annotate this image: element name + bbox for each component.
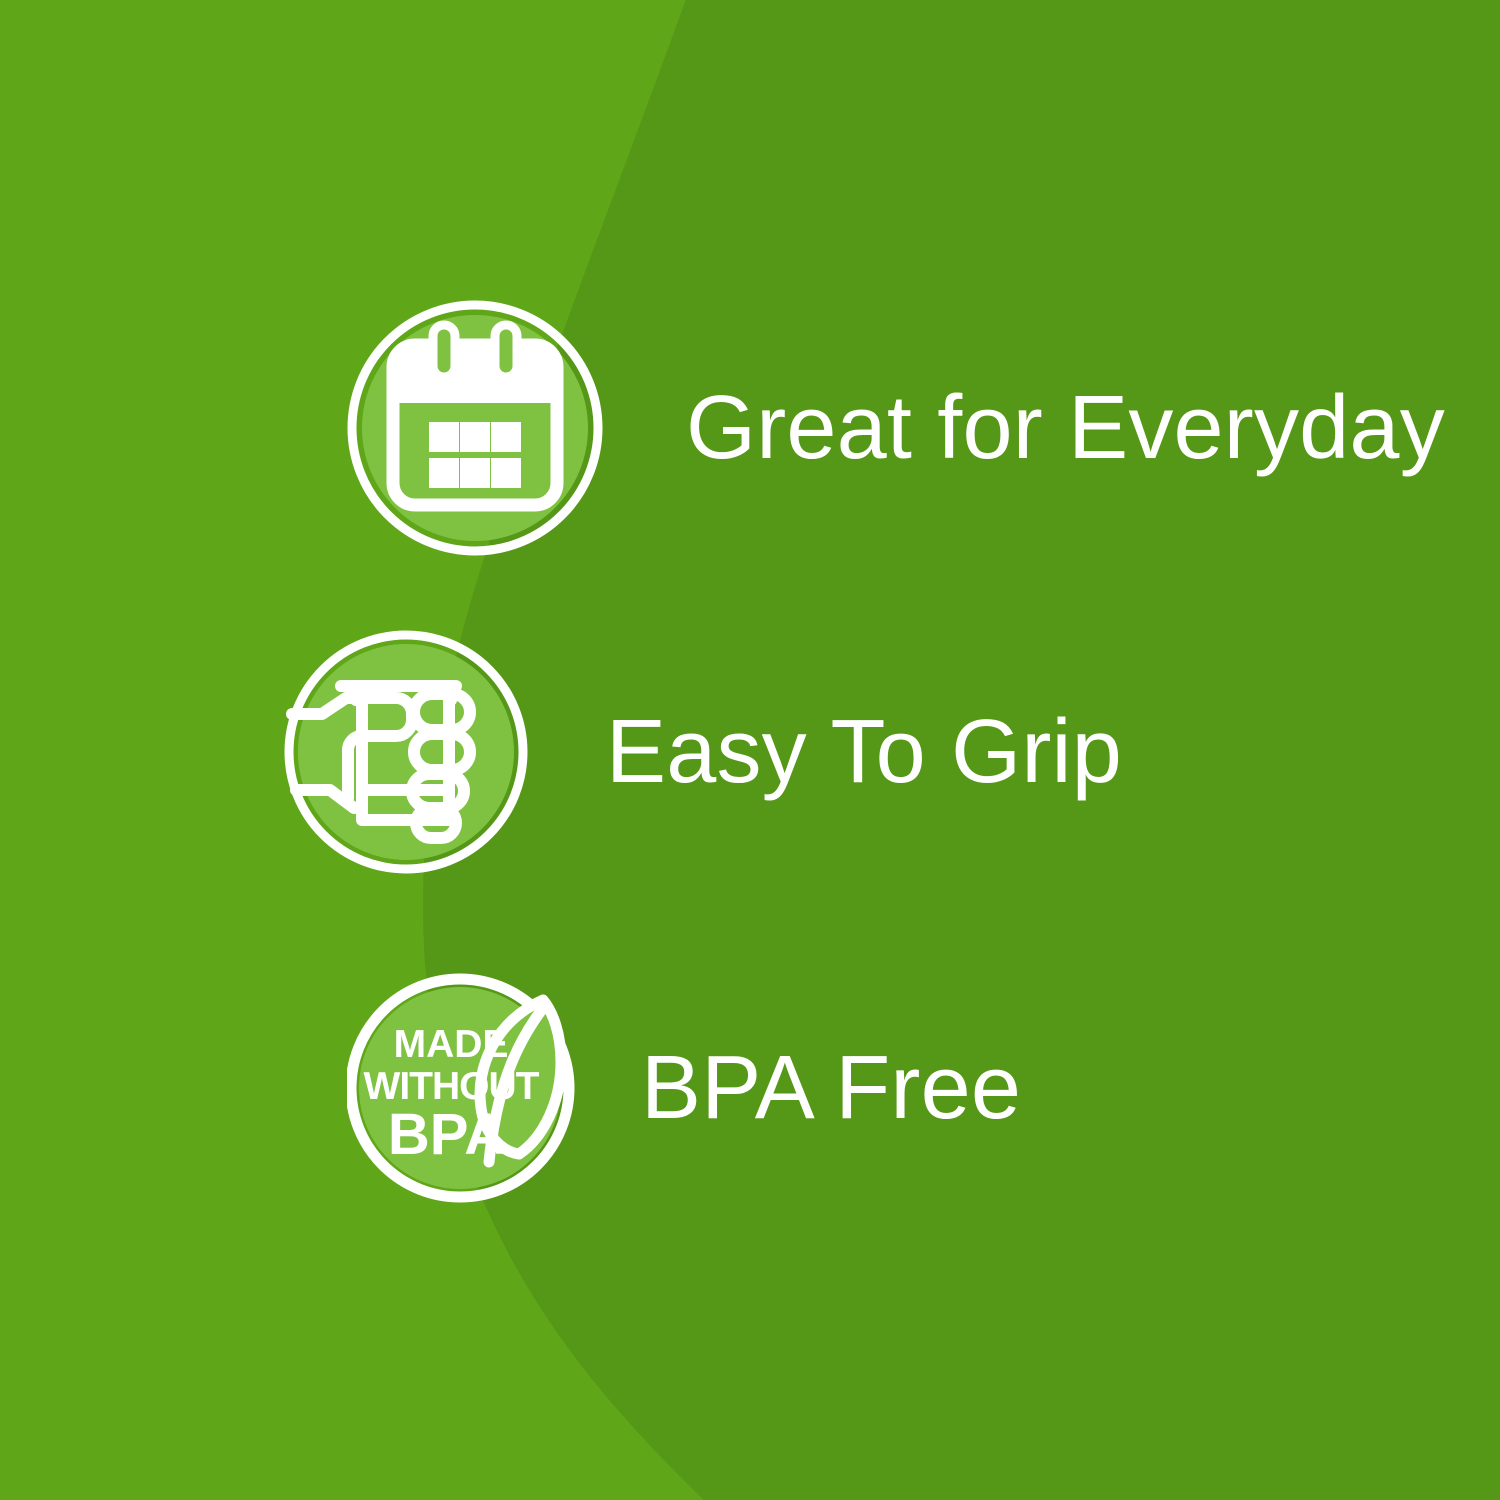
hand-grip-icon [284,630,528,874]
made-without-bpa-icon: MADE WITHOUT BPA [347,962,599,1214]
feature-row-great-for-everyday: Great for Everyday [347,300,1445,556]
bpa-badge-line1: MADE [394,1023,509,1066]
feature-highlights-panel: Great for Everyday [0,0,1500,1500]
feature-label-great-for-everyday: Great for Everyday [686,383,1445,473]
bpa-badge-line3: BPA [388,1102,506,1167]
feature-row-easy-to-grip: Easy To Grip [284,630,1122,874]
feature-label-bpa-free: BPA Free [641,1043,1021,1133]
feature-label-easy-to-grip: Easy To Grip [606,707,1122,797]
calendar-icon [347,300,603,556]
feature-row-bpa-free: MADE WITHOUT BPA BPA Free [347,962,1021,1214]
